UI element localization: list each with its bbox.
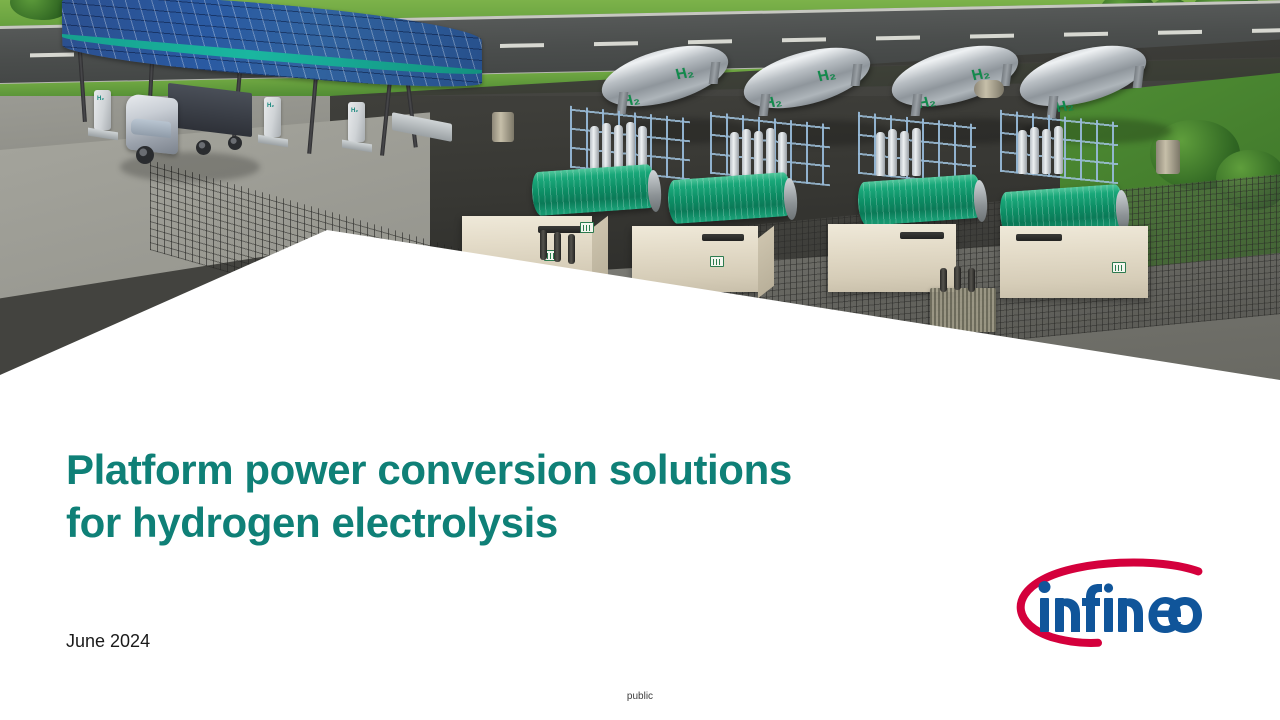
lane-dash [876,36,920,41]
lane-dash [782,37,826,42]
container-label [710,256,724,267]
lane-dash [594,41,638,46]
classification-label: public [0,691,1280,702]
slide-date: June 2024 [66,631,150,652]
transformer-bushing [554,232,561,262]
lane-dash [688,39,732,44]
truck-wheel [136,146,154,164]
title-slide: H₂ H₂ H₂ H₂ H₂ H₂ H₂ [0,0,1280,720]
transformer-bushing [540,230,547,260]
truck-wheel [228,136,242,150]
dispenser-label: H₂ [97,96,104,102]
storage-drum [1156,140,1180,174]
transformer-bushing [968,268,975,292]
storage-drum [974,80,1004,98]
lane-dash [970,34,1014,39]
logo-wordmark [1039,581,1203,633]
lane-dash [1064,32,1108,37]
electrolyser-stack [857,174,984,227]
container-label [580,222,594,233]
container-vent [1016,234,1062,241]
power-transformer [930,288,996,332]
transformer-bushing [568,234,575,264]
container-end [758,226,774,299]
electrolyser-stack [667,172,794,225]
storage-drum [492,112,514,142]
page-title: Platform power conversion solutions for … [66,443,792,549]
transformer-bushing [954,266,961,290]
lane-dash [30,53,74,58]
tank-label: H₂ [674,64,696,83]
dispenser-label: H₂ [267,103,274,109]
electrolyser-container [828,224,956,292]
electrolyser-container [1000,226,1148,298]
gas-bottle-bank [1018,126,1063,174]
dispenser-label: H₂ [351,108,358,114]
lane-dash [1252,28,1280,33]
transformer-bushing [940,268,947,292]
gas-bottle-bank [876,128,921,176]
container-label [1112,262,1126,273]
truck-wheel [196,140,211,155]
electrolyser-stack [531,164,658,217]
lane-dash [500,43,544,48]
lane-dash [1158,30,1202,35]
infineon-logo [1012,558,1212,650]
container-vent [702,234,744,241]
container-vent [900,232,944,239]
tank-label: H₂ [816,66,838,85]
gas-bottle-bank [590,122,647,170]
gas-bottle-bank [730,128,787,176]
